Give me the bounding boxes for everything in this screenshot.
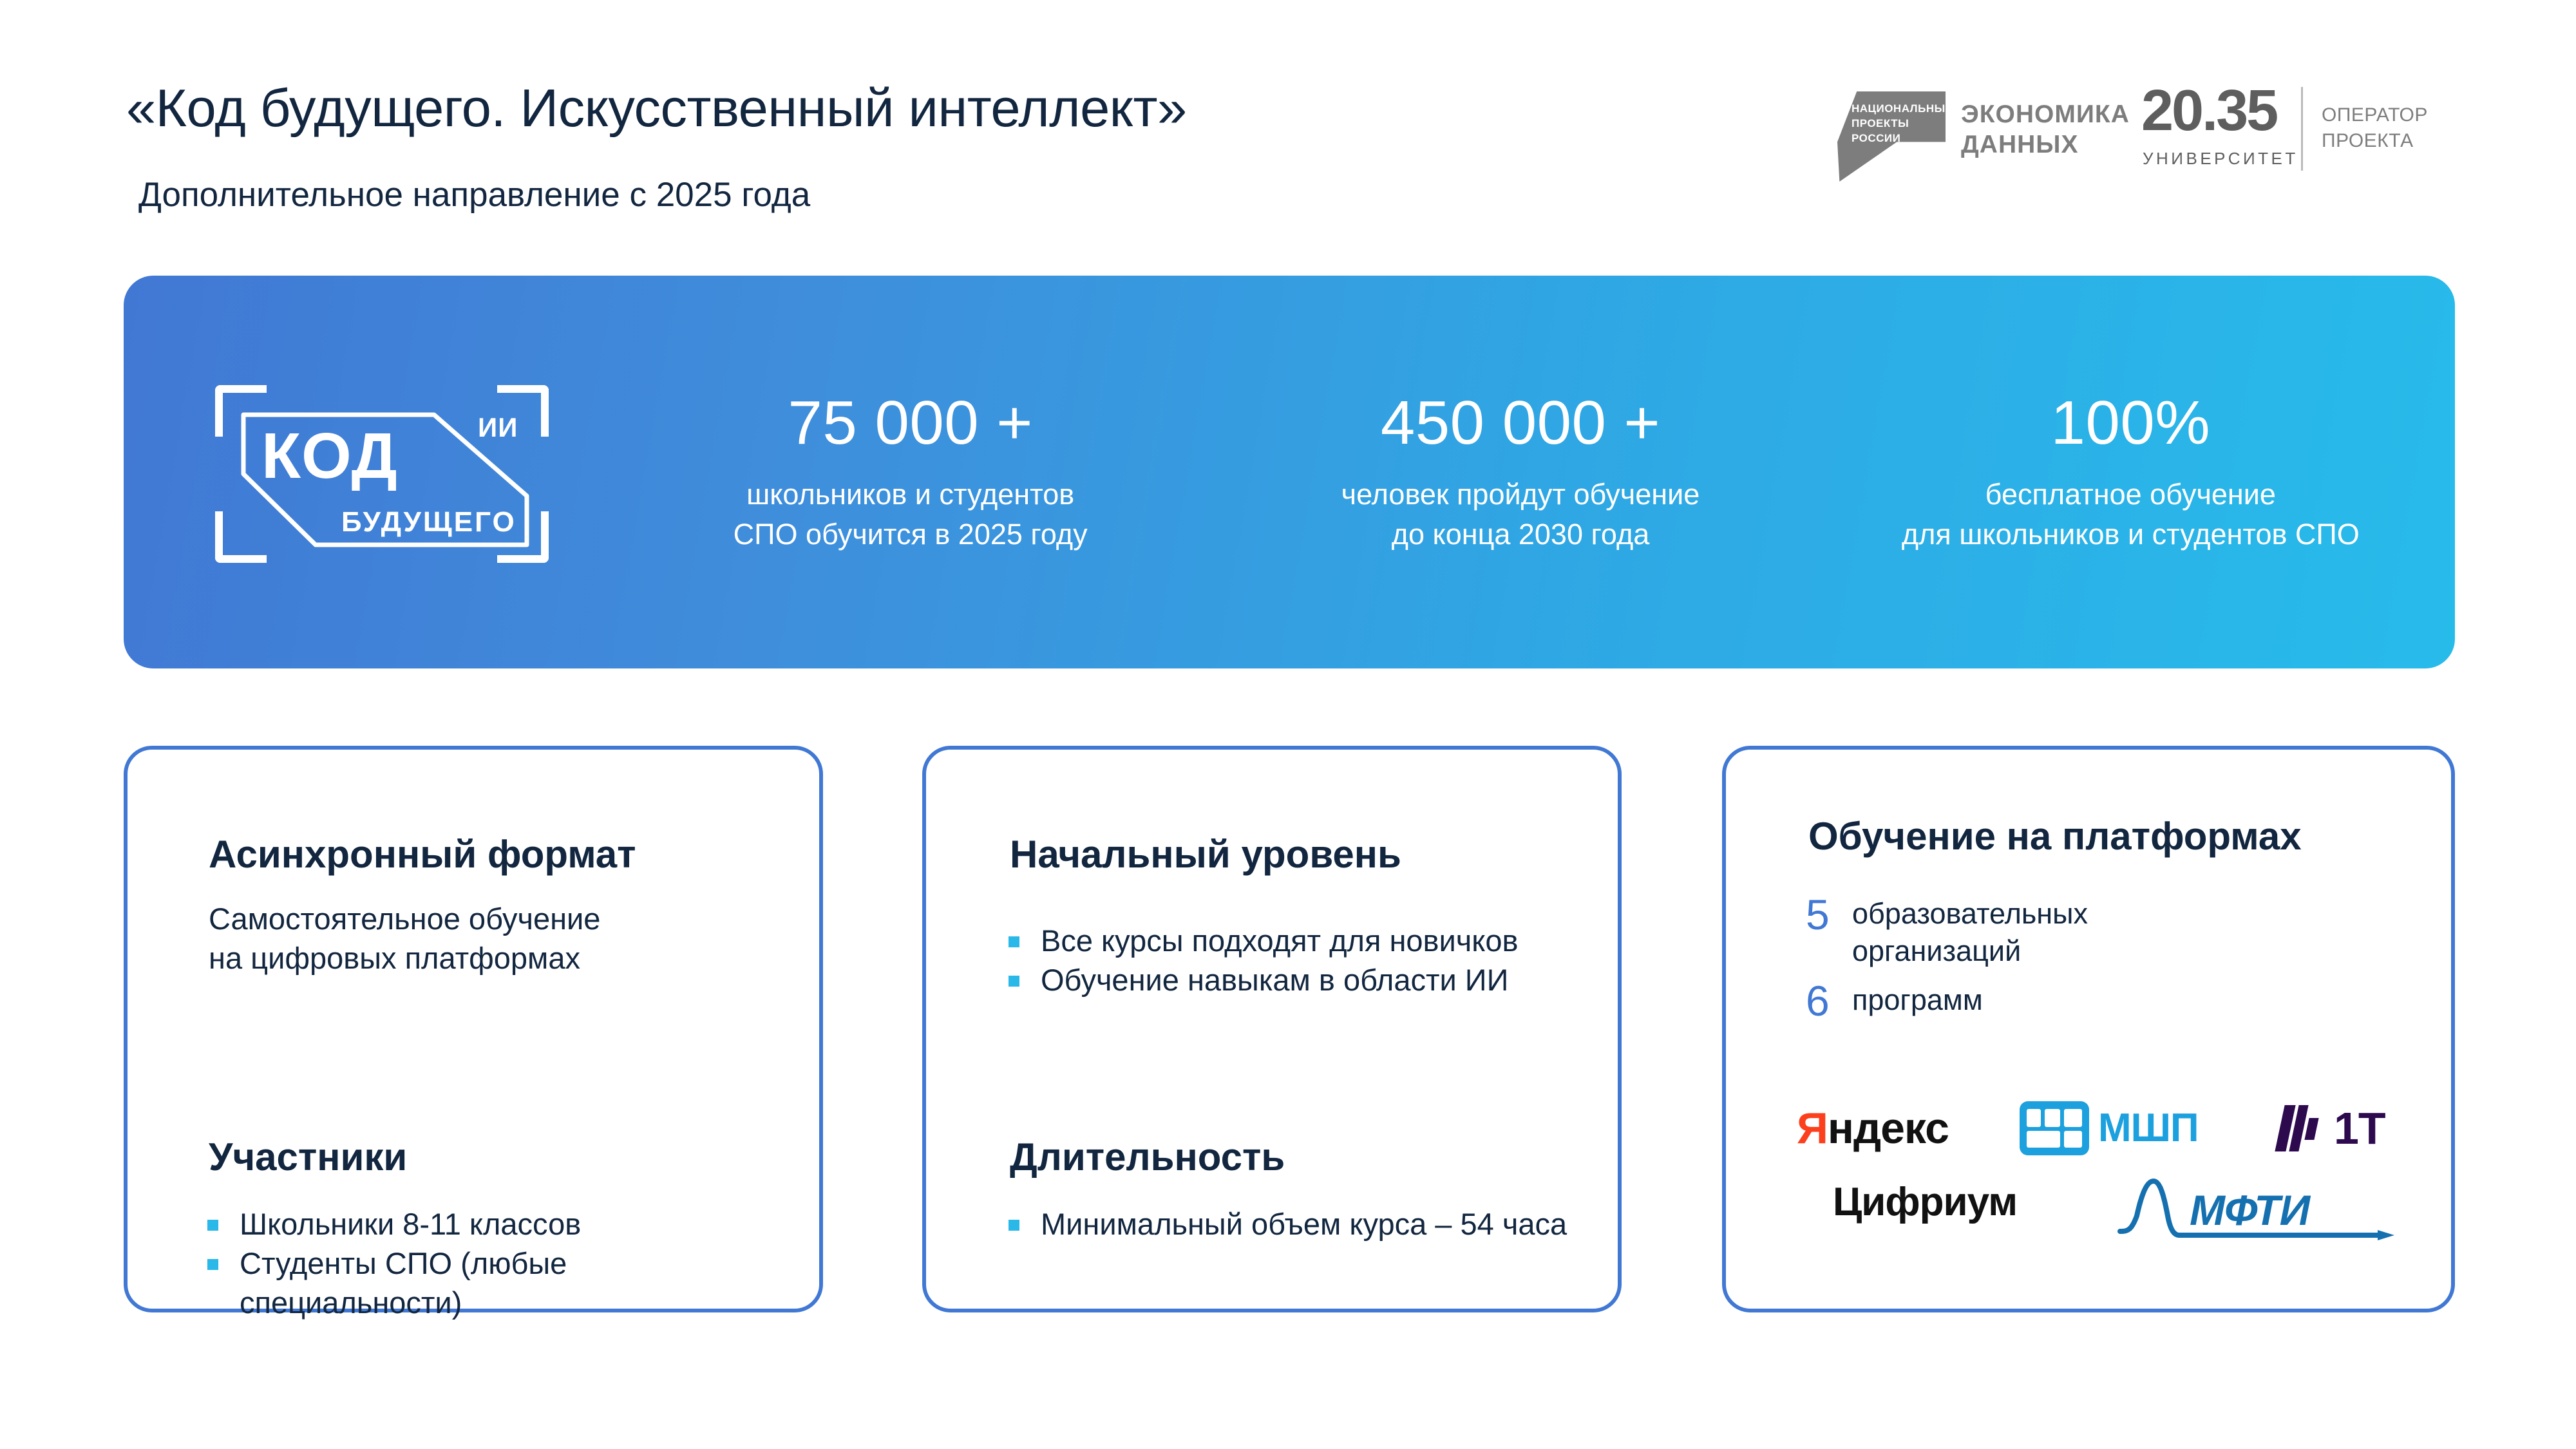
card1-heading-participants: Участники xyxy=(209,1135,407,1180)
card1-paragraph-line-1: Самостоятельное обучение xyxy=(209,899,600,938)
stat-value: 100% xyxy=(1826,390,2436,457)
count-number: 5 xyxy=(1806,895,1852,934)
tsifrium-logo: Цифриум xyxy=(1833,1182,2017,1222)
university-role-line-1: ОПЕРАТОР xyxy=(2322,102,2428,128)
page-header: «Код будущего. Искусственный интеллект» … xyxy=(0,0,2576,245)
card-platforms: Обучение на платформах 5 образовательных… xyxy=(1722,746,2455,1312)
mshp-logo-text: МШП xyxy=(2098,1108,2199,1148)
card1-heading-format: Асинхронный формат xyxy=(209,832,636,877)
stat-label: школьников и студентов СПО обучится в 20… xyxy=(605,475,1215,554)
stat-label: человек пройдут обучение до конца 2030 г… xyxy=(1215,475,1825,554)
np-text-line-2: ДАННЫХ xyxy=(1961,129,2130,160)
list-item: Студенты СПО (любые специальности) xyxy=(204,1244,764,1322)
count-text-line-1: образовательных xyxy=(1852,895,2088,933)
national-projects-mark-text: НАЦИОНАЛЬНЫЕ ПРОЕКТЫ РОССИИ xyxy=(1851,103,1934,144)
stat-label: бесплатное обучение для школьников и сту… xyxy=(1826,475,2436,554)
np-text-line-1: ЭКОНОМИКА xyxy=(1961,99,2130,129)
stat-label-line-1: бесплатное обучение xyxy=(1826,475,2436,515)
university-role-line-2: ПРОЕКТА xyxy=(2322,128,2428,154)
np-mark-line-1: НАЦИОНАЛЬНЫЕ xyxy=(1851,103,1934,114)
stat-label-line-2: СПО обучится в 2025 году xyxy=(605,515,1215,554)
yandex-logo-letter: Я xyxy=(1797,1104,1828,1153)
list-item: Обучение навыкам в области ИИ xyxy=(1005,960,1584,999)
page-title: «Код будущего. Искусственный интеллект» xyxy=(126,77,1187,139)
card2-bullet-list-level: Все курсы подходят для новичков Обучение… xyxy=(1005,921,1584,999)
card-asynchronous-format: Асинхронный формат Самостоятельное обуче… xyxy=(124,746,823,1312)
university-number: 20.35 xyxy=(2141,82,2277,140)
np-mark-line-3: РОССИИ xyxy=(1851,133,1934,144)
card3-heading-platforms: Обучение на платформах xyxy=(1808,814,2302,859)
card1-paragraph-line-2: на цифровых платформах xyxy=(209,938,600,978)
economy-of-data-text: ЭКОНОМИКА ДАННЫХ xyxy=(1961,99,2130,160)
university-role: ОПЕРАТОР ПРОЕКТА xyxy=(2322,102,2428,154)
stat-label-line-1: человек пройдут обучение xyxy=(1215,475,1825,515)
card1-paragraph: Самостоятельное обучение на цифровых пла… xyxy=(209,899,600,978)
logo-divider xyxy=(2301,87,2303,171)
university-2035-logo: 20.35 УНИВЕРСИТЕТ ОПЕРАТОР ПРОЕКТА xyxy=(2141,87,2431,184)
count-text-line-2: организаций xyxy=(1852,933,2088,970)
card2-heading-duration: Длительность xyxy=(1010,1135,1285,1180)
yandex-logo: Яндекс xyxy=(1797,1106,1949,1150)
partner-logos: Яндекс МШП 1Т Цифриум МФТИ xyxy=(1790,1097,2434,1278)
onet-logo: 1Т xyxy=(2280,1104,2385,1153)
card3-counts-list: 5 образовательных организаций 6 программ xyxy=(1806,895,2385,1032)
card-beginner-level: Начальный уровень Все курсы подходят для… xyxy=(922,746,1622,1312)
stats-row: 75 000 + школьников и студентов СПО обуч… xyxy=(580,390,2455,554)
national-projects-logo: НАЦИОНАЛЬНЫЕ ПРОЕКТЫ РОССИИ ЭКОНОМИКА ДА… xyxy=(1837,91,2108,182)
list-item: Все курсы подходят для новичков xyxy=(1005,921,1584,960)
stat-item: 75 000 + школьников и студентов СПО обуч… xyxy=(605,390,1215,554)
stat-label-line-2: для школьников и студентов СПО xyxy=(1826,515,2436,554)
stat-value: 75 000 + xyxy=(605,390,1215,457)
logo-word-ii: ИИ xyxy=(478,412,518,443)
count-text-line-1: программ xyxy=(1852,981,1983,1019)
stat-label-line-2: до конца 2030 года xyxy=(1215,515,1825,554)
yandex-logo-text: ндекс xyxy=(1828,1104,1949,1153)
logo-word-kod: КОД xyxy=(261,424,398,488)
page-subtitle: Дополнительное направление с 2025 года xyxy=(138,175,810,214)
stat-item: 450 000 + человек пройдут обучение до ко… xyxy=(1215,390,1825,554)
mfti-logo: МФТИ xyxy=(2117,1176,2394,1247)
logo-word-budushchego: БУДУЩЕГО xyxy=(341,506,516,538)
np-mark-line-2: ПРОЕКТЫ xyxy=(1851,118,1934,129)
mfti-logo-text: МФТИ xyxy=(2190,1189,2309,1231)
mshp-logo: МШП xyxy=(2020,1101,2199,1155)
card2-bullet-list-duration: Минимальный объем курса – 54 часа xyxy=(1005,1204,1571,1244)
count-text: образовательных организаций xyxy=(1852,895,2088,970)
stat-label-line-1: школьников и студентов xyxy=(605,475,1215,515)
count-text: программ xyxy=(1852,981,1983,1019)
count-number: 6 xyxy=(1806,981,1852,1020)
list-item: 5 образовательных организаций xyxy=(1806,895,2385,970)
stats-banner: КОД ИИ БУДУЩЕГО 75 000 + школьников и ст… xyxy=(124,276,2455,668)
list-item: Минимальный объем курса – 54 часа xyxy=(1005,1204,1571,1244)
stat-item: 100% бесплатное обучение для школьников … xyxy=(1826,390,2436,554)
kod-budushchego-logo: КОД ИИ БУДУЩЕГО xyxy=(180,366,580,578)
mshp-grid-icon xyxy=(2020,1101,2089,1155)
list-item: 6 программ xyxy=(1806,981,2385,1020)
university-word: УНИВЕРСИТЕТ xyxy=(2143,149,2298,169)
card2-heading-level: Начальный уровень xyxy=(1010,832,1401,877)
list-item: Школьники 8-11 классов xyxy=(204,1204,764,1244)
info-cards-row: Асинхронный формат Самостоятельное обуче… xyxy=(124,746,2455,1319)
onet-logo-text: 1Т xyxy=(2334,1106,2385,1151)
onet-bars-icon xyxy=(2280,1104,2326,1153)
card1-bullet-list: Школьники 8-11 классов Студенты СПО (люб… xyxy=(204,1204,764,1322)
stat-value: 450 000 + xyxy=(1215,390,1825,457)
